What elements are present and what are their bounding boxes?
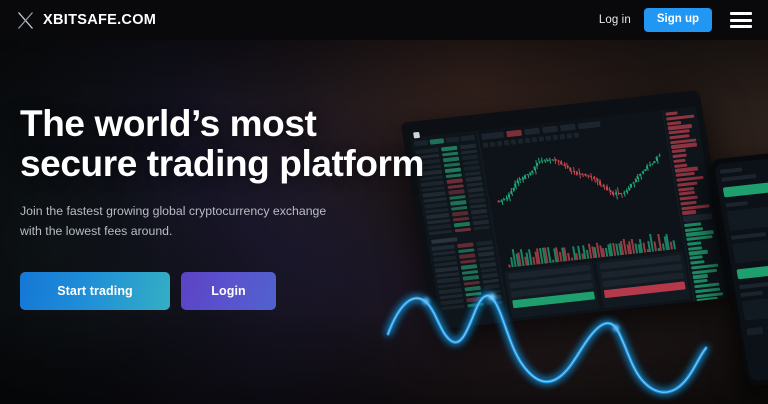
candle bbox=[533, 166, 536, 170]
site-header: XBITSAFE.COM Log in Sign up bbox=[0, 0, 768, 40]
candle bbox=[642, 171, 644, 174]
landing-page: XBITSAFE.COM Log in Sign up The world’s … bbox=[0, 0, 768, 404]
candle bbox=[603, 185, 605, 188]
candle-wick bbox=[603, 184, 605, 190]
page-title: The world’s most secure trading platform bbox=[20, 104, 480, 184]
dashboard-chart-panel bbox=[478, 110, 694, 323]
market-cell bbox=[483, 284, 500, 289]
candle bbox=[506, 198, 508, 200]
chart-tool-icon bbox=[573, 132, 579, 137]
candle bbox=[606, 187, 609, 191]
chart-tool-icon bbox=[552, 135, 558, 140]
phone-bottom-nav bbox=[746, 322, 768, 335]
candle-wick bbox=[576, 171, 577, 175]
price-chip bbox=[506, 130, 522, 138]
chart-tool-icon bbox=[504, 140, 510, 145]
phone-primary-button bbox=[723, 181, 768, 197]
phone-order-card bbox=[742, 295, 768, 321]
candle-wick bbox=[590, 173, 592, 181]
candle bbox=[625, 190, 627, 192]
start-trading-button[interactable]: Start trading bbox=[20, 272, 170, 310]
chart-tool-icon bbox=[539, 136, 545, 141]
hero-content: The world’s most secure trading platform… bbox=[20, 104, 480, 310]
order-book-bid bbox=[697, 302, 715, 307]
chart-tool-icon bbox=[483, 142, 489, 147]
headline-line-1: The world’s most bbox=[20, 103, 316, 144]
candle-wick bbox=[561, 160, 563, 165]
hamburger-menu-icon[interactable] bbox=[729, 9, 753, 31]
volume-bar bbox=[672, 240, 676, 250]
order-book-bid bbox=[698, 307, 717, 312]
candle-wick bbox=[635, 178, 636, 182]
order-book-bid bbox=[700, 321, 715, 326]
login-link[interactable]: Log in bbox=[599, 14, 631, 26]
market-cell bbox=[484, 289, 501, 294]
candle bbox=[529, 173, 531, 175]
sell-order-form bbox=[595, 251, 690, 308]
candle bbox=[644, 169, 646, 171]
candle-wick bbox=[588, 174, 589, 178]
candle-wick bbox=[633, 182, 635, 187]
phone-detail-line bbox=[739, 281, 768, 289]
phone-detail-line bbox=[731, 232, 766, 240]
hero-cta-row: Start trading Login bbox=[20, 272, 480, 310]
phone-input-box bbox=[727, 205, 768, 231]
candle bbox=[628, 188, 630, 190]
candle bbox=[514, 184, 517, 188]
order-book-bid bbox=[687, 241, 701, 246]
market-cell bbox=[486, 300, 503, 305]
stat-chip bbox=[542, 126, 558, 134]
candle-wick bbox=[609, 187, 611, 194]
headline-line-2: secure trading platform bbox=[20, 144, 480, 184]
candle-wick bbox=[615, 190, 617, 200]
chart-tool-icon bbox=[511, 139, 517, 144]
candle-wick bbox=[538, 158, 540, 164]
order-book-bid bbox=[699, 311, 723, 317]
candle-wick bbox=[532, 170, 533, 174]
order-book-ask bbox=[677, 181, 697, 186]
login-button[interactable]: Login bbox=[181, 272, 276, 310]
candle-wick bbox=[555, 157, 557, 164]
candle-wick bbox=[527, 174, 528, 178]
chart-tool-icon bbox=[532, 137, 538, 142]
candle bbox=[566, 165, 568, 168]
volume-bar bbox=[643, 243, 647, 253]
candle bbox=[658, 155, 660, 157]
candle-wick bbox=[593, 176, 595, 183]
candle-wick bbox=[552, 159, 553, 161]
candle-wick bbox=[631, 184, 632, 188]
candle bbox=[569, 168, 572, 172]
candle bbox=[623, 192, 625, 194]
candle-wick bbox=[573, 167, 575, 175]
candle bbox=[654, 161, 656, 163]
candle bbox=[630, 184, 633, 188]
candle-wick bbox=[640, 174, 642, 180]
candle-wick bbox=[612, 191, 614, 197]
order-book-bid bbox=[692, 268, 717, 274]
volume-bar bbox=[653, 242, 657, 252]
candle-wick bbox=[534, 166, 536, 173]
candle bbox=[637, 176, 639, 179]
order-book-bid bbox=[684, 222, 702, 227]
signup-button[interactable]: Sign up bbox=[644, 8, 712, 32]
pair-chip bbox=[481, 132, 504, 140]
candle-wick bbox=[546, 158, 547, 162]
candle bbox=[656, 157, 659, 161]
candle bbox=[524, 176, 526, 179]
order-book-ask bbox=[665, 111, 677, 115]
buy-order-form bbox=[504, 262, 599, 319]
candle-wick bbox=[564, 162, 566, 170]
market-cell bbox=[480, 262, 497, 267]
candle bbox=[538, 162, 540, 164]
phone-balance-line bbox=[721, 174, 756, 182]
candle-wick bbox=[621, 193, 623, 198]
order-book-ask bbox=[676, 176, 704, 182]
candle-wick bbox=[645, 169, 646, 172]
candle-wick bbox=[652, 163, 653, 165]
candle bbox=[651, 163, 653, 165]
candle-wick bbox=[504, 197, 505, 200]
chart-tool-icon bbox=[545, 135, 551, 140]
phone-confirm-button bbox=[736, 263, 768, 279]
chart-tool-icon bbox=[559, 134, 565, 139]
candle-wick bbox=[582, 173, 583, 176]
phone-detail-line bbox=[740, 291, 763, 297]
phone-nav-item bbox=[746, 327, 763, 336]
market-cell bbox=[478, 251, 495, 256]
phone-header-line bbox=[720, 167, 743, 173]
hamburger-bar bbox=[730, 25, 752, 28]
chart-tool-icon bbox=[518, 139, 524, 144]
candle bbox=[596, 179, 598, 182]
candle bbox=[508, 194, 511, 198]
hamburger-bar bbox=[730, 19, 752, 22]
candle bbox=[536, 163, 538, 166]
chart-tool-icon bbox=[566, 133, 572, 138]
chart-tool-icon bbox=[525, 138, 531, 143]
candle-wick bbox=[566, 162, 568, 168]
candle bbox=[635, 179, 637, 182]
stat-chip bbox=[560, 124, 576, 132]
market-cell bbox=[479, 257, 496, 262]
market-cell bbox=[481, 267, 498, 272]
candle-wick bbox=[599, 179, 601, 187]
stat-chip bbox=[524, 128, 540, 136]
candle-wick bbox=[530, 172, 531, 176]
candle-wick bbox=[617, 188, 619, 196]
order-book-ask bbox=[672, 154, 686, 159]
order-book-ask bbox=[675, 167, 698, 173]
candle bbox=[512, 188, 514, 191]
order-book-bid bbox=[689, 250, 709, 255]
order-book-ask bbox=[666, 114, 694, 120]
chart-tool-icon bbox=[497, 141, 503, 146]
candle bbox=[599, 181, 602, 185]
order-book-ask bbox=[673, 159, 685, 163]
header-nav: Log in Sign up bbox=[599, 8, 753, 32]
candle-wick bbox=[654, 161, 655, 163]
candle-wick bbox=[499, 201, 500, 202]
market-cell bbox=[482, 278, 499, 283]
order-book-bid bbox=[690, 260, 705, 265]
order-book-bid bbox=[686, 235, 712, 241]
candle-wick bbox=[513, 188, 514, 192]
candlestick-chart bbox=[484, 131, 678, 244]
phone-input-box bbox=[732, 237, 768, 263]
hamburger-bar bbox=[730, 12, 752, 15]
brand-logo[interactable]: XBITSAFE.COM bbox=[17, 11, 156, 30]
candle-wick bbox=[606, 185, 608, 191]
market-cell bbox=[482, 273, 499, 278]
market-cell bbox=[485, 295, 502, 300]
brand-name: XBITSAFE.COM bbox=[43, 12, 156, 28]
stat-chip bbox=[578, 121, 601, 129]
candle bbox=[639, 174, 641, 176]
candle-wick bbox=[544, 160, 545, 164]
candle bbox=[510, 190, 513, 193]
chart-tool-icon bbox=[490, 142, 496, 147]
candle bbox=[632, 182, 634, 184]
candle-wick bbox=[541, 158, 543, 164]
order-book-ask bbox=[680, 201, 697, 206]
candle-series bbox=[484, 131, 678, 244]
candle-wick bbox=[585, 174, 586, 177]
candle bbox=[531, 170, 533, 172]
candle-wick bbox=[570, 167, 572, 174]
candle bbox=[517, 180, 520, 183]
candle-wick bbox=[597, 178, 599, 185]
order-book-spread bbox=[683, 213, 713, 222]
candle bbox=[646, 166, 648, 169]
candle bbox=[501, 200, 503, 202]
candle bbox=[560, 161, 563, 165]
order-book-bid bbox=[700, 316, 725, 322]
order-book-bid bbox=[697, 297, 719, 302]
hero-subheadline: Join the fastest growing global cryptocu… bbox=[20, 202, 350, 242]
phone-section-label bbox=[725, 201, 748, 207]
x-logo-icon bbox=[17, 11, 34, 30]
candle-wick bbox=[659, 154, 660, 157]
